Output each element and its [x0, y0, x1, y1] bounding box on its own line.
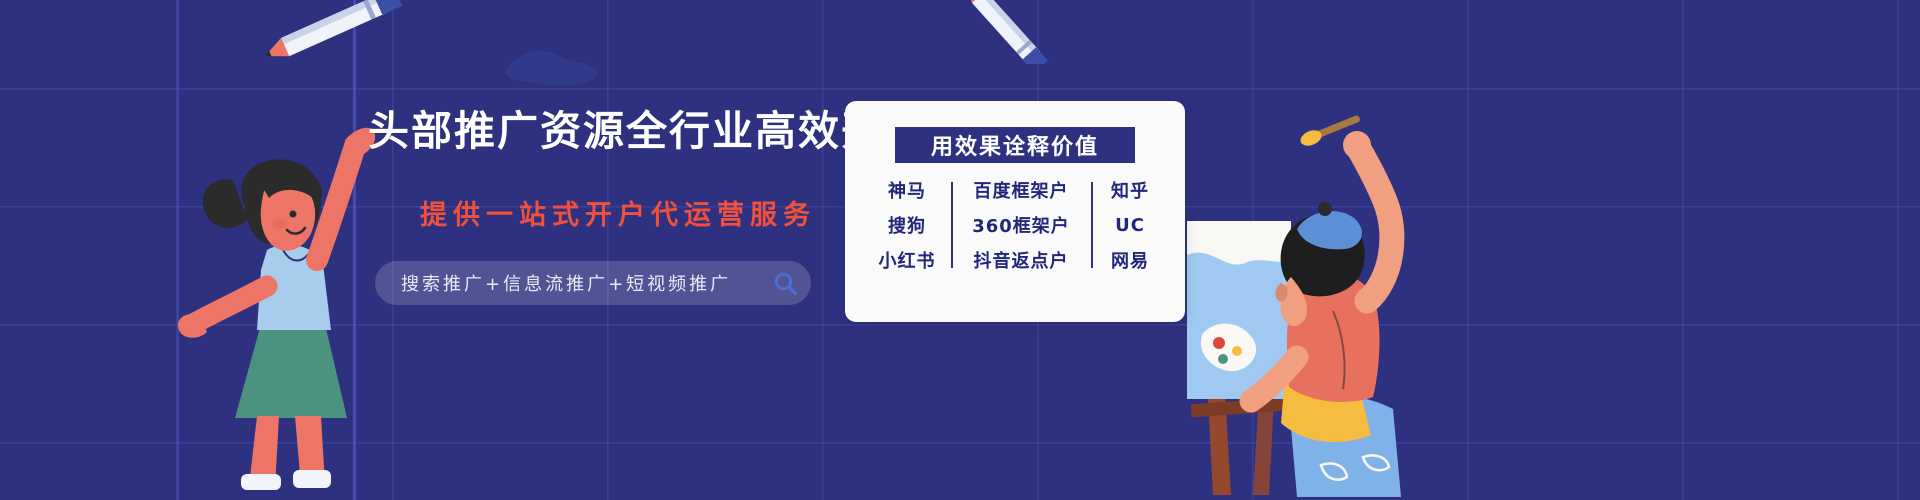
- list-item[interactable]: 小红书: [879, 249, 936, 271]
- search-input[interactable]: 搜索推广+信息流推广+短视频推广: [375, 261, 811, 305]
- list-item[interactable]: 神马: [888, 179, 926, 201]
- pencil-icon: [942, 0, 1067, 64]
- woman-waving-illustration: [175, 118, 375, 500]
- list-item[interactable]: 网易: [1111, 249, 1149, 271]
- list-item[interactable]: 知乎: [1111, 179, 1149, 201]
- list-item[interactable]: 搜狗: [888, 214, 926, 236]
- list-item[interactable]: UC: [1115, 214, 1145, 236]
- search-icon[interactable]: [759, 261, 811, 305]
- page-title: 头部推广资源全行业高效开户: [368, 108, 927, 154]
- platform-column-3: 知乎 UC 网易: [1091, 179, 1169, 271]
- platform-columns: 神马 搜狗 小红书 百度框架户 360框架户 抖音返点户 知乎 UC 网易: [845, 179, 1185, 271]
- search-input-value[interactable]: 搜索推广+信息流推广+短视频推广: [375, 270, 759, 296]
- subtitle: 提供一站式开户代运营服务: [420, 200, 816, 232]
- platform-card: 用效果诠释价值 神马 搜狗 小红书 百度框架户 360框架户 抖音返点户 知乎 …: [845, 101, 1185, 322]
- pencil-icon: [243, 0, 413, 64]
- platform-column-2: 百度框架户 360框架户 抖音返点户: [951, 179, 1091, 271]
- platform-column-1: 神马 搜狗 小红书: [863, 179, 951, 271]
- card-header-label: 用效果诠释价值: [931, 129, 1099, 161]
- card-header-banner: 用效果诠释价值: [895, 127, 1135, 163]
- promo-banner: 头部推广资源全行业高效开户 提供一站式开户代运营服务 搜索推广+信息流推广+短视…: [0, 0, 1920, 500]
- decorative-blob-icon: [495, 40, 605, 90]
- painter-at-easel-illustration: [1185, 105, 1435, 500]
- list-item[interactable]: 360框架户: [972, 214, 1070, 236]
- list-item[interactable]: 百度框架户: [974, 179, 1069, 201]
- list-item[interactable]: 抖音返点户: [974, 249, 1069, 271]
